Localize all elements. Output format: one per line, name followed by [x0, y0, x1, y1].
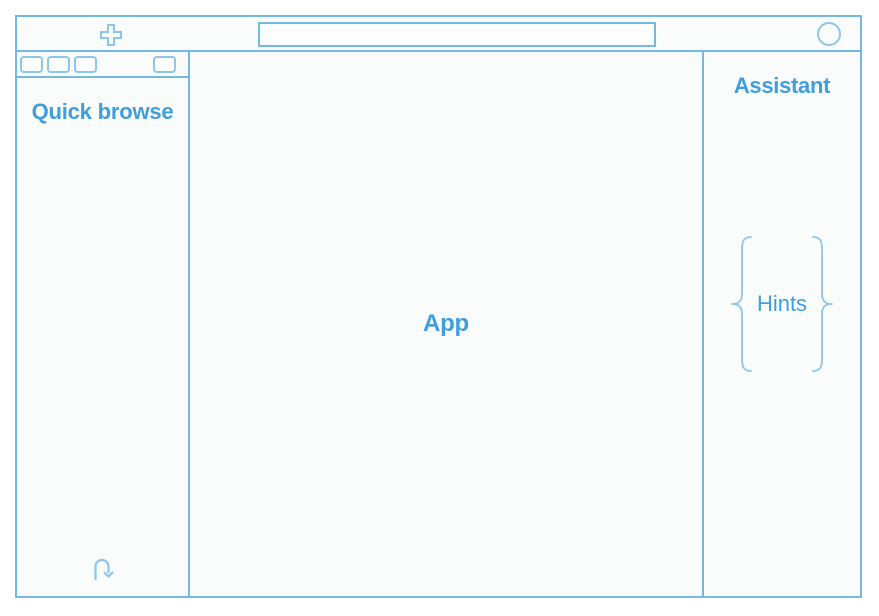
circle-avatar-icon[interactable]: [817, 22, 841, 46]
left-curly-brace-icon: [729, 234, 755, 374]
right-curly-brace-icon: [809, 234, 835, 374]
tab-chip-4[interactable]: [153, 56, 176, 73]
address-input[interactable]: [260, 24, 654, 45]
tab-chip-3[interactable]: [74, 56, 97, 73]
hints-group: Hints: [704, 234, 860, 374]
address-bar[interactable]: [258, 22, 656, 47]
tab-chip-2[interactable]: [47, 56, 70, 73]
hints-label: Hints: [755, 291, 809, 317]
sidebar-tab-strip: [17, 52, 188, 78]
u-turn-arrow-icon[interactable]: [89, 554, 119, 584]
assistant-panel: Assistant Hints: [704, 52, 860, 596]
assistant-title: Assistant: [704, 73, 860, 99]
window-body: Quick browse App Assistant: [17, 52, 860, 596]
quick-browse-title: Quick browse: [17, 99, 188, 125]
sidebar-content: Quick browse: [17, 78, 188, 596]
app-panel: App: [190, 52, 704, 596]
tab-chip-1[interactable]: [20, 56, 43, 73]
sidebar-tab-group: [20, 56, 97, 73]
browser-window: Quick browse App Assistant: [15, 15, 862, 598]
sidebar-tab-trailing-group: [153, 56, 176, 73]
wireframe-canvas: Quick browse App Assistant: [0, 0, 879, 616]
plus-icon[interactable]: [99, 23, 123, 47]
top-bar: [17, 17, 860, 52]
sidebar-panel: Quick browse: [17, 52, 190, 596]
app-title: App: [190, 310, 702, 338]
